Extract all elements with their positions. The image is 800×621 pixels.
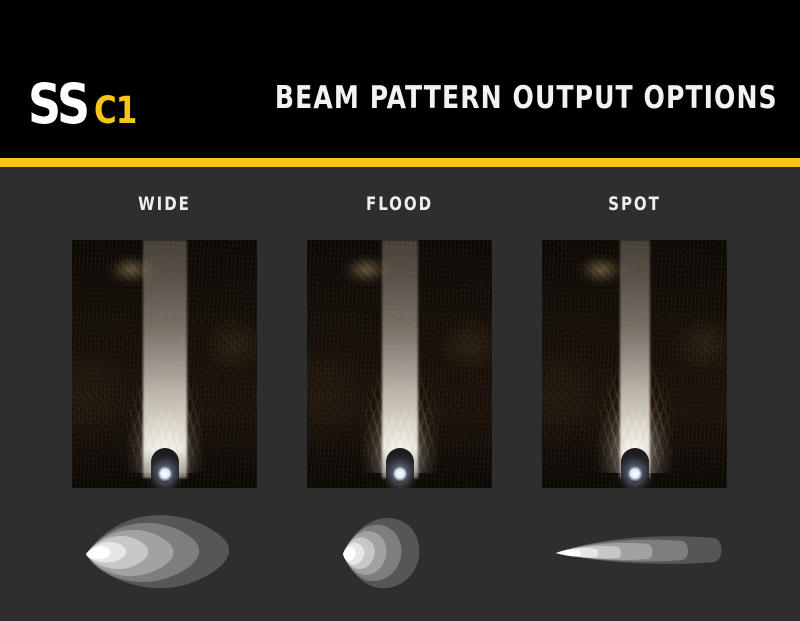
beam-photo-wide xyxy=(72,240,257,488)
beam-label-spot: SPOT xyxy=(553,193,716,215)
page-title: BEAM PATTERN OUTPUT OPTIONS xyxy=(275,80,778,116)
beam-label-wide: WIDE xyxy=(83,193,246,215)
beam-comparison-grid: WIDE xyxy=(0,167,800,621)
beam-photo-flood xyxy=(307,240,492,488)
beam-photo-spot xyxy=(542,240,727,488)
beam-layer-group-flood xyxy=(343,518,419,588)
beam-layer-group-wide xyxy=(86,515,229,588)
photo-headlight-glow xyxy=(158,466,172,483)
beam-diagram-wide xyxy=(72,504,257,596)
header-bar: SSC1 BEAM PATTERN OUTPUT OPTIONS xyxy=(0,0,800,158)
beam-pattern-infographic: SSC1 BEAM PATTERN OUTPUT OPTIONS WIDE xyxy=(0,0,800,621)
yellow-accent-divider xyxy=(0,158,800,167)
logo-text-secondary: C1 xyxy=(94,89,136,132)
logo-text-primary: SS xyxy=(28,72,88,136)
ssc1-logo: SSC1 xyxy=(28,72,139,130)
beam-layer-group-spot xyxy=(556,536,722,564)
photo-headlight-glow xyxy=(393,466,407,483)
photo-headlight-glow xyxy=(628,466,642,483)
beam-hotspot xyxy=(556,549,581,556)
beam-diagram-flood xyxy=(307,504,492,596)
beam-diagram-spot xyxy=(542,504,727,596)
beam-label-flood: FLOOD xyxy=(318,193,481,215)
